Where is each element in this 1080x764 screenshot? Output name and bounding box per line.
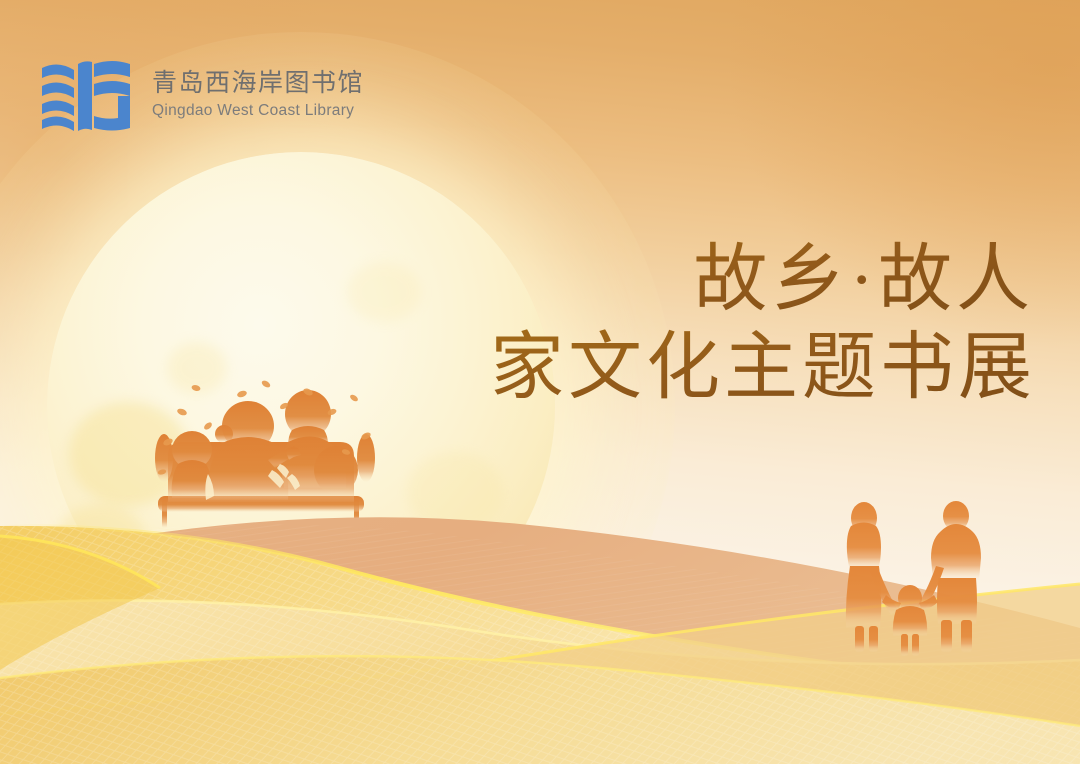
logo-text-block: 青岛西海岸图书馆 Qingdao West Coast Library: [152, 68, 364, 122]
title-line-1: 故乡·故人: [490, 236, 1036, 324]
title-line-2: 家文化主题书展: [490, 324, 1036, 412]
library-name-cn: 青岛西海岸图书馆: [152, 68, 364, 99]
poster-title: 故乡·故人 家文化主题书展: [490, 236, 1036, 412]
library-logo[interactable]: 青岛西海岸图书馆 Qingdao West Coast Library: [36, 58, 364, 132]
library-name-en: Qingdao West Coast Library: [152, 101, 364, 122]
open-book-logo-icon: [36, 58, 136, 132]
family-of-three-standing-silhouette: [828, 500, 998, 672]
moon-crater: [347, 262, 421, 322]
poster-canvas: 青岛西海岸图书馆 Qingdao West Coast Library 故乡·故…: [0, 0, 1080, 764]
